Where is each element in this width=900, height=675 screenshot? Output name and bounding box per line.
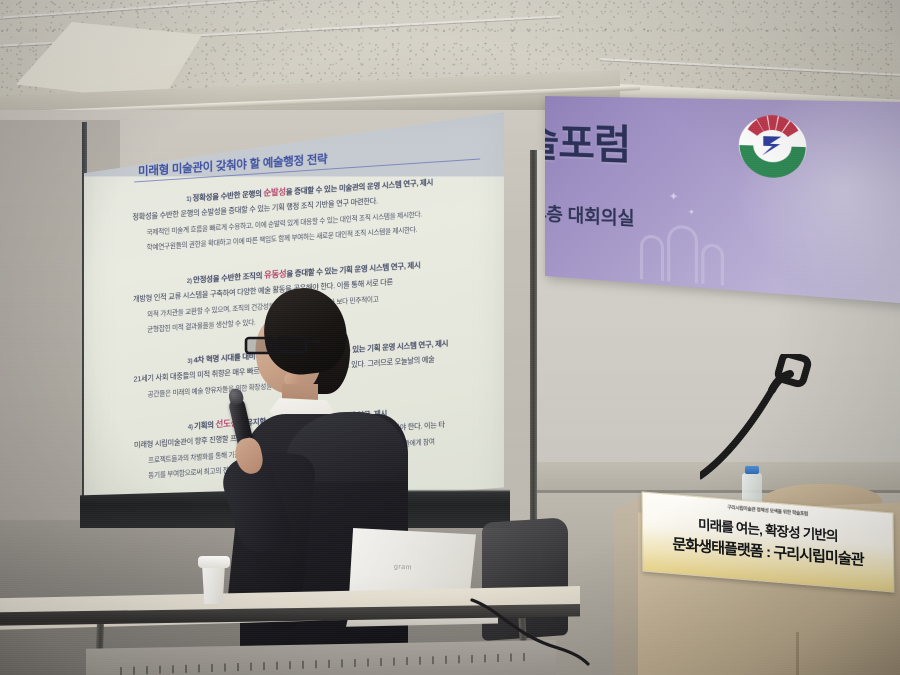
wall-column-edge: [530, 150, 537, 540]
microphone-head: [227, 387, 244, 406]
slide-section-number: 4): [188, 424, 194, 430]
sparkle-icon: ✦: [688, 207, 695, 217]
power-cable: [470, 596, 590, 666]
presentation-photo-scene: 학술포럼 층 4층 대회의실 ✦ ✦ 미래형 미술: [0, 0, 900, 675]
slide-section: 1) 정확성을 수반한 운행의 순발성을 증대할 수 있는 미술관의 운영 시스…: [132, 171, 500, 252]
sparkle-icon: ✦: [669, 190, 679, 204]
gooseneck-microphone-icon: [700, 354, 840, 484]
slide-keyword: 유동성: [264, 268, 286, 279]
podium-seam: [796, 632, 799, 675]
banner-subtitle: 층 4층 대회의실: [545, 199, 635, 232]
event-banner: 학술포럼 층 4층 대회의실 ✦ ✦: [545, 96, 900, 305]
cup-lid: [198, 556, 230, 568]
paper-coffee-cup[interactable]: [198, 552, 230, 604]
bottle-cap: [745, 466, 759, 474]
banner-title: 학술포럼: [545, 109, 630, 172]
cup-body: [200, 562, 227, 604]
slide-section-number: 3): [187, 359, 193, 365]
slide-section-number: 2): [187, 279, 193, 285]
podium: 구리시립미술관 정체성 모색을 위한 학술포럼 미래를 여는, 확장성 기반의 …: [614, 466, 900, 675]
laptop-brand-label: gram: [394, 563, 412, 571]
slide-keyword: 순발성: [263, 186, 285, 197]
eyeglasses-icon: [244, 330, 324, 358]
slide-section-number: 1): [186, 197, 192, 203]
guri-city-logo-icon: [737, 112, 809, 181]
banner-arch-graphic: [633, 219, 762, 288]
